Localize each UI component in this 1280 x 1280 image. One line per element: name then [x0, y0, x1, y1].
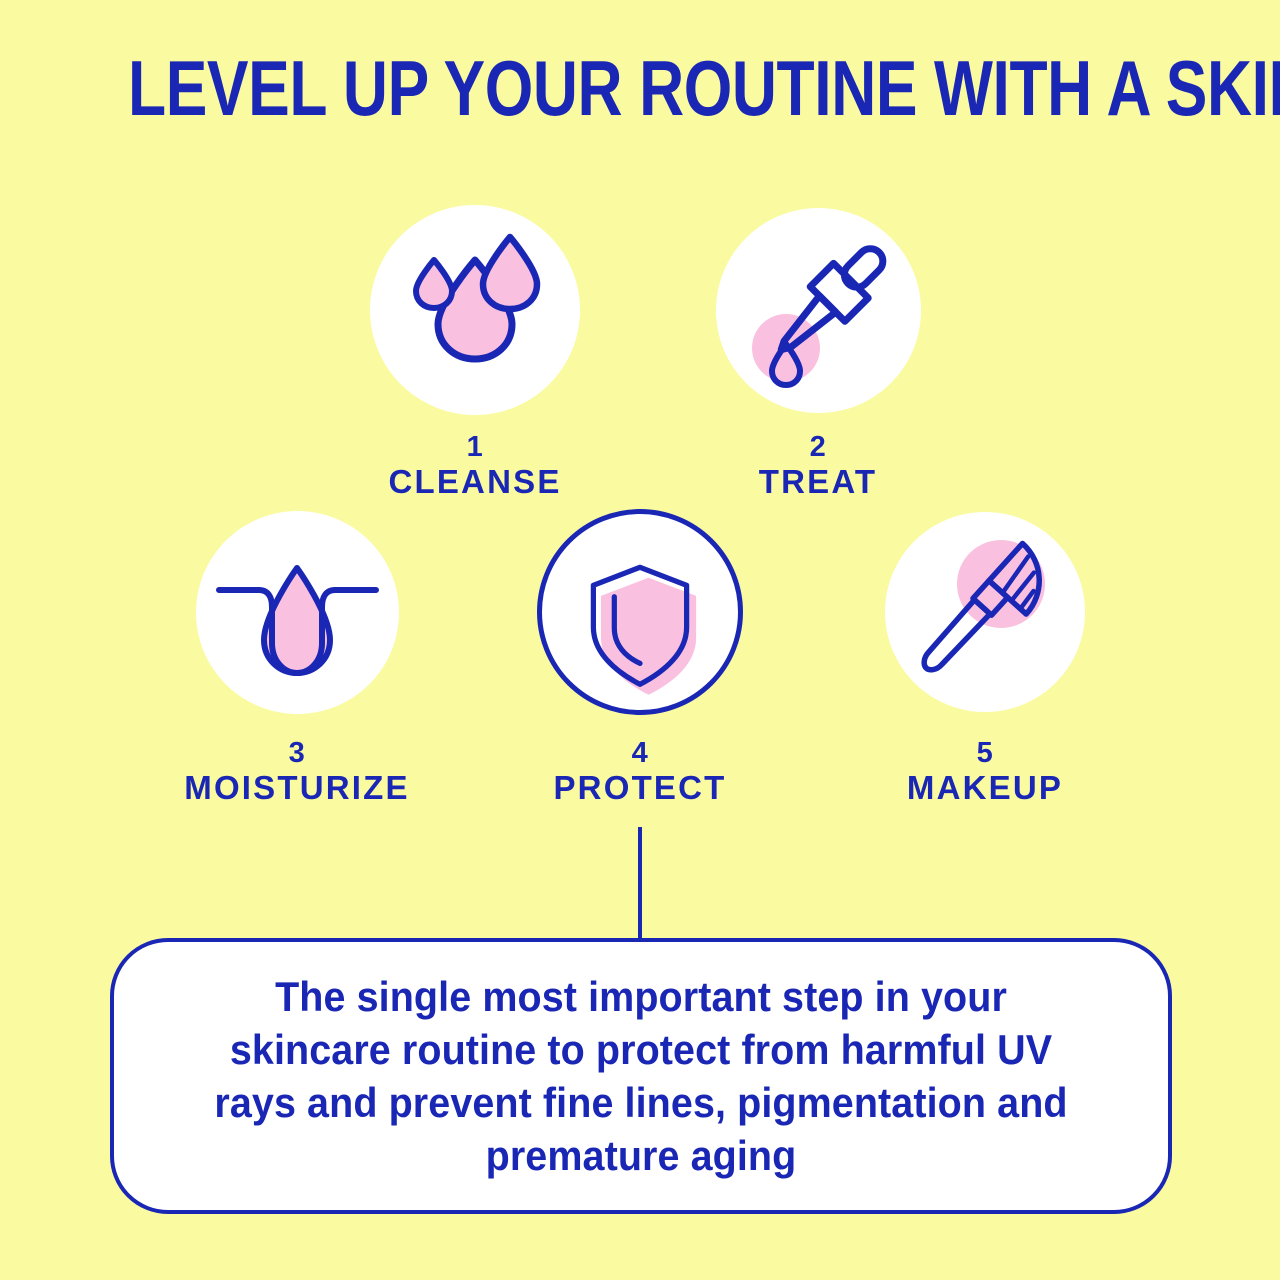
makeup-brush-icon: [885, 512, 1085, 712]
step-1-name: CLEANSE: [335, 465, 615, 500]
callout-text: The single most important step in your s…: [195, 970, 1088, 1182]
water-droplets-icon: [370, 205, 580, 415]
step-5-label: 5 MAKEUP: [845, 738, 1125, 806]
callout-box: The single most important step in your s…: [110, 938, 1172, 1214]
step-1-number: 1: [335, 432, 615, 462]
step-3-icon-circle: [196, 511, 399, 714]
step-3-number: 3: [157, 738, 437, 768]
step-4-number: 4: [500, 738, 780, 768]
step-5-icon-circle: [885, 512, 1085, 712]
shield-icon: [542, 514, 738, 710]
step-1-icon-circle: [370, 205, 580, 415]
step-3-label: 3 MOISTURIZE: [157, 738, 437, 806]
infographic-canvas: LEVEL UP YOUR ROUTINE WITH A SKINSCREEN …: [0, 0, 1280, 1280]
page-title: LEVEL UP YOUR ROUTINE WITH A SKINSCREEN: [128, 48, 1152, 128]
step-2-name: TREAT: [678, 465, 958, 500]
step-5-number: 5: [845, 738, 1125, 768]
step-1-label: 1 CLEANSE: [335, 432, 615, 500]
connector-line: [638, 827, 642, 940]
step-2-icon-circle: [716, 208, 921, 413]
step-4-label: 4 PROTECT: [500, 738, 780, 806]
dropper-pipette-icon: [716, 208, 921, 413]
step-5-name: MAKEUP: [845, 771, 1125, 806]
step-3-name: MOISTURIZE: [157, 771, 437, 806]
step-2-number: 2: [678, 432, 958, 462]
step-2-label: 2 TREAT: [678, 432, 958, 500]
step-4-icon-circle: [537, 509, 743, 715]
step-4-name: PROTECT: [500, 771, 780, 806]
droplet-absorbing-skin-icon: [196, 511, 399, 714]
